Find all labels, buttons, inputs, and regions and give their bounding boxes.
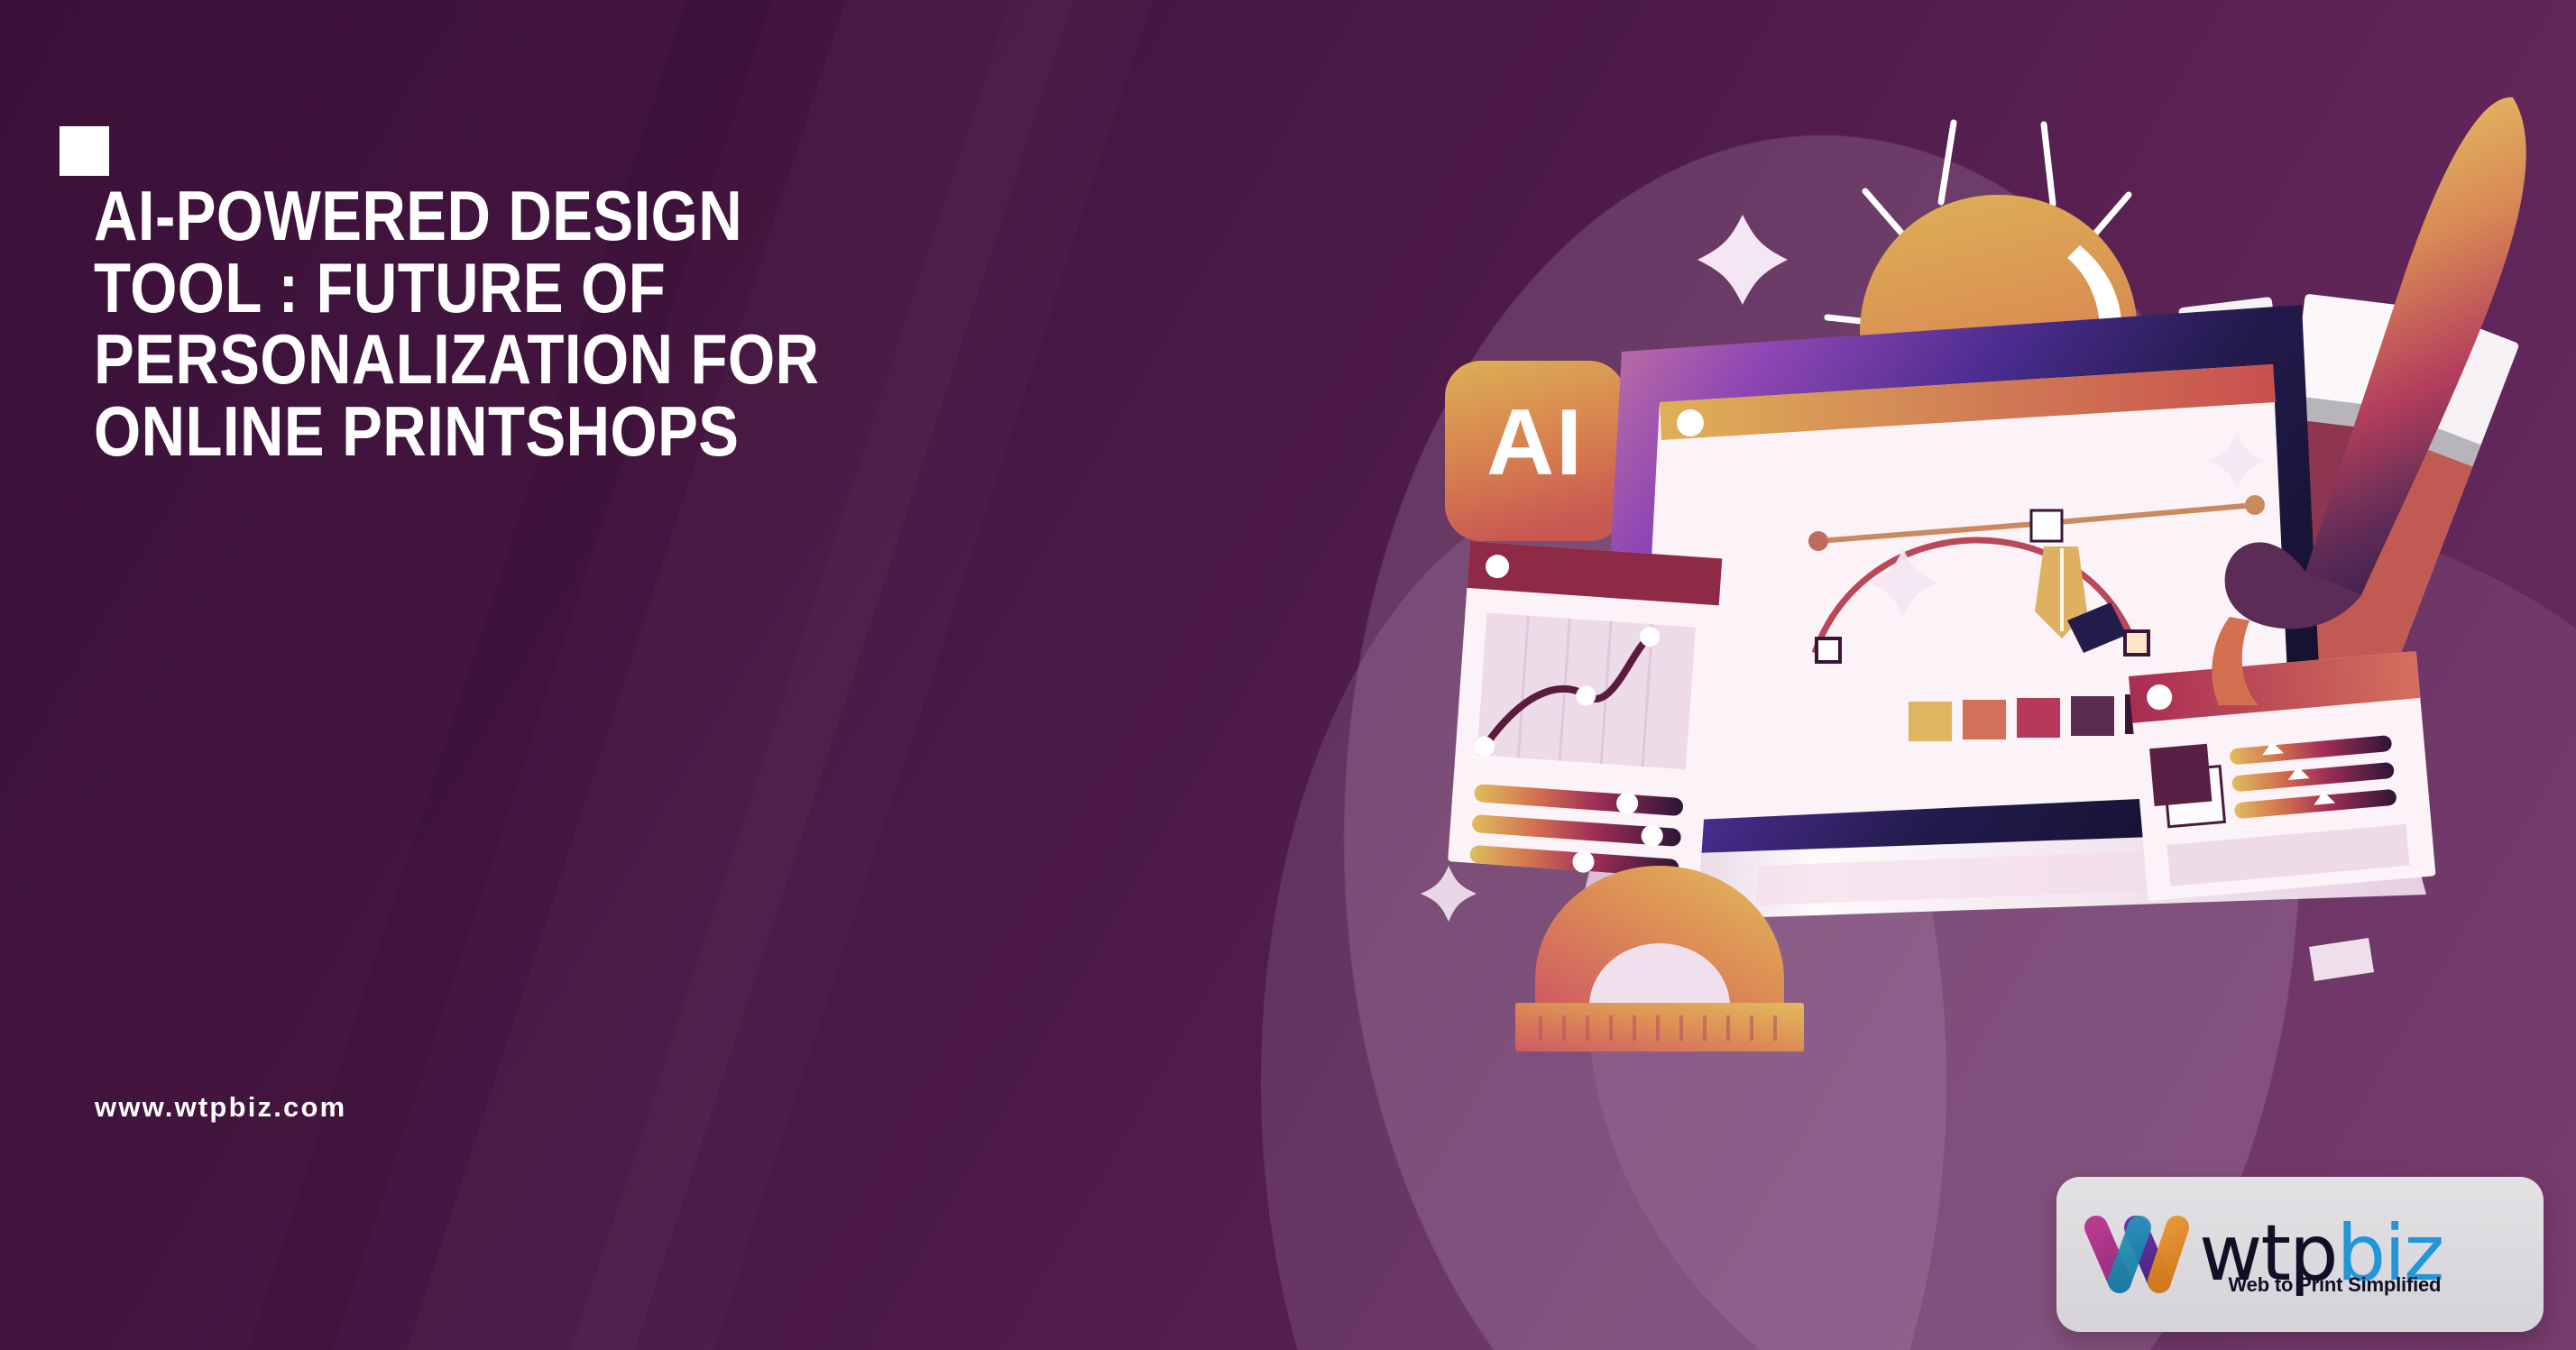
website-url[interactable]: www.wtpbiz.com: [95, 1091, 346, 1124]
ai-badge-label: AI: [1486, 390, 1584, 495]
headline-line-2: TOOL : FUTURE OF: [94, 253, 667, 325]
headline-line-3: PERSONALIZATION FOR: [94, 324, 667, 396]
page-title: AI-POWERED DESIGN TOOL : FUTURE OF PERSO…: [94, 180, 667, 467]
marketing-banner: AI-POWERED DESIGN TOOL : FUTURE OF PERSO…: [0, 0, 2576, 1350]
wtpbiz-w-mark: [2080, 1208, 2194, 1301]
wtpbiz-logo-card[interactable]: wtpbiz Web to Print Simplified: [2056, 1177, 2544, 1332]
loose-page: [2309, 938, 2374, 981]
ai-badge: AI: [1445, 361, 1625, 541]
accent-square: [60, 126, 109, 176]
wtpbiz-wordmark: wtpbiz Web to Print Simplified: [2199, 1217, 2443, 1291]
left-tool-panel: [1448, 541, 1722, 881]
headline-line-4: ONLINE PRINTSHOPS: [94, 396, 667, 468]
monitor-titlebar-dot: [1677, 409, 1704, 436]
logo-tagline: Web to Print Simplified: [2229, 1273, 2442, 1297]
headline-line-1: AI-POWERED DESIGN: [94, 180, 667, 253]
design-tool-illustration: AI: [1335, 54, 2544, 1091]
left-panel-sliders: [1469, 782, 1684, 879]
right-tool-panel: [2129, 651, 2436, 901]
